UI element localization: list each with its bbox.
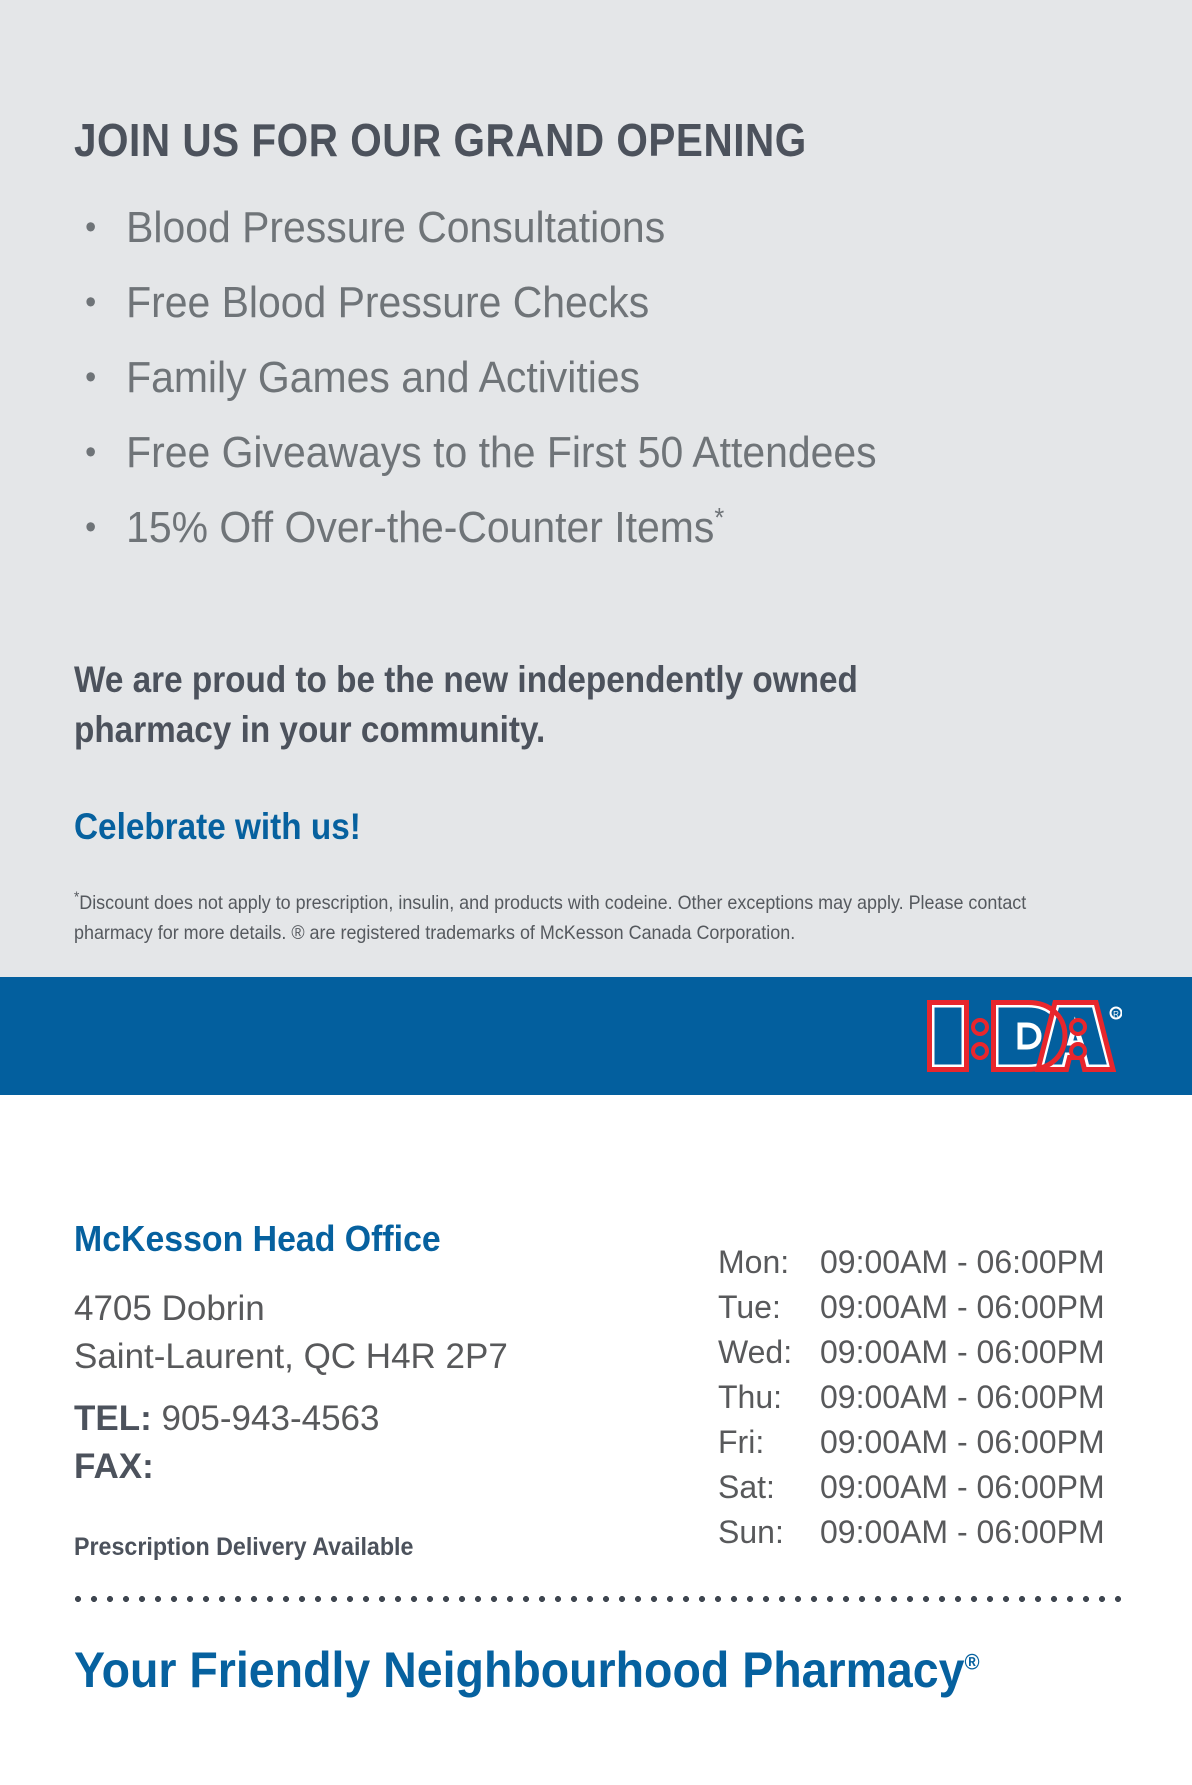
hours-time: 09:00AM - 06:00PM xyxy=(820,1240,1105,1285)
promo-panel: JOIN US FOR OUR GRAND OPENING •Blood Pre… xyxy=(0,0,1192,977)
hours-day: Sun: xyxy=(718,1510,820,1555)
hours-day: Tue: xyxy=(718,1285,820,1330)
bullet-icon: • xyxy=(85,340,96,415)
table-row: Thu: 09:00AM - 06:00PM xyxy=(718,1375,1105,1420)
registered-trademark-icon: ® xyxy=(965,1649,980,1674)
offer-asterisk: * xyxy=(714,501,724,532)
store-hours-table: Mon: 09:00AM - 06:00PM Tue: 09:00AM - 06… xyxy=(718,1240,1105,1555)
bullet-icon: • xyxy=(85,190,96,265)
telephone-row: TEL: 905-943-4563 xyxy=(74,1395,379,1443)
hours-time: 09:00AM - 06:00PM xyxy=(820,1465,1105,1510)
hours-day: Thu: xyxy=(718,1375,820,1420)
telephone-value: 905-943-4563 xyxy=(162,1399,380,1438)
disclaimer-body: Discount does not apply to prescription,… xyxy=(74,892,1026,944)
list-item: •Free Blood Pressure Checks xyxy=(74,265,1041,340)
pharmacy-flyer: JOIN US FOR OUR GRAND OPENING •Blood Pre… xyxy=(0,0,1192,1785)
list-item: •Free Giveaways to the First 50 Attendee… xyxy=(74,415,1041,490)
table-row: Tue: 09:00AM - 06:00PM xyxy=(718,1285,1105,1330)
hours-day: Mon: xyxy=(718,1240,820,1285)
ida-logo: R xyxy=(924,997,1122,1075)
list-item: •Family Games and Activities xyxy=(74,340,1041,415)
list-item: •Blood Pressure Consultations xyxy=(74,190,1041,265)
bullet-icon: • xyxy=(85,265,96,340)
hours-day: Fri: xyxy=(718,1420,820,1465)
address-line-2: Saint-Laurent, QC H4R 2P7 xyxy=(74,1333,508,1381)
hours-day: Wed: xyxy=(718,1330,820,1375)
table-row: Fri: 09:00AM - 06:00PM xyxy=(718,1420,1105,1465)
hours-time: 09:00AM - 06:00PM xyxy=(820,1420,1105,1465)
page-title: JOIN US FOR OUR GRAND OPENING xyxy=(74,114,807,166)
bullet-icon: • xyxy=(85,415,96,490)
offer-list: •Blood Pressure Consultations •Free Bloo… xyxy=(74,190,1114,565)
footer-tagline: Your Friendly Neighbourhood Pharmacy® xyxy=(74,1640,980,1700)
fax-label: FAX: xyxy=(74,1447,154,1486)
hours-time: 09:00AM - 06:00PM xyxy=(820,1285,1105,1330)
table-row: Mon: 09:00AM - 06:00PM xyxy=(718,1240,1105,1285)
proud-statement: We are proud to be the new independently… xyxy=(74,655,965,755)
disclaimer-text: *Discount does not apply to prescription… xyxy=(74,888,1045,948)
offer-label: Free Giveaways to the First 50 Attendees xyxy=(126,428,877,477)
offer-label: 15% Off Over-the-Counter Items xyxy=(126,503,714,552)
address-line-1: 4705 Dobrin xyxy=(74,1285,508,1333)
dotted-divider xyxy=(70,1595,1122,1603)
offer-label: Family Games and Activities xyxy=(126,353,640,402)
fax-row: FAX: xyxy=(74,1443,379,1491)
tagline-text: Your Friendly Neighbourhood Pharmacy xyxy=(74,1642,965,1698)
store-name: McKesson Head Office xyxy=(74,1218,441,1260)
store-address: 4705 Dobrin Saint-Laurent, QC H4R 2P7 xyxy=(74,1285,508,1381)
store-info-panel: McKesson Head Office 4705 Dobrin Saint-L… xyxy=(0,1095,1192,1785)
svg-text:R: R xyxy=(1113,1010,1119,1019)
hours-day: Sat: xyxy=(718,1465,820,1510)
hours-time: 09:00AM - 06:00PM xyxy=(820,1510,1105,1555)
offer-label: Blood Pressure Consultations xyxy=(126,203,665,252)
table-row: Sat: 09:00AM - 06:00PM xyxy=(718,1465,1105,1510)
hours-time: 09:00AM - 06:00PM xyxy=(820,1330,1105,1375)
offer-label: Free Blood Pressure Checks xyxy=(126,278,649,327)
delivery-note: Prescription Delivery Available xyxy=(74,1532,413,1562)
list-item: •15% Off Over-the-Counter Items* xyxy=(74,490,1041,565)
brand-banner: R xyxy=(0,977,1192,1095)
celebrate-headline: Celebrate with us! xyxy=(74,805,361,849)
bullet-icon: • xyxy=(85,490,96,565)
table-row: Wed: 09:00AM - 06:00PM xyxy=(718,1330,1105,1375)
hours-time: 09:00AM - 06:00PM xyxy=(820,1375,1105,1420)
table-row: Sun: 09:00AM - 06:00PM xyxy=(718,1510,1105,1555)
telephone-label: TEL: xyxy=(74,1399,152,1438)
store-contact: TEL: 905-943-4563 FAX: xyxy=(74,1395,379,1491)
